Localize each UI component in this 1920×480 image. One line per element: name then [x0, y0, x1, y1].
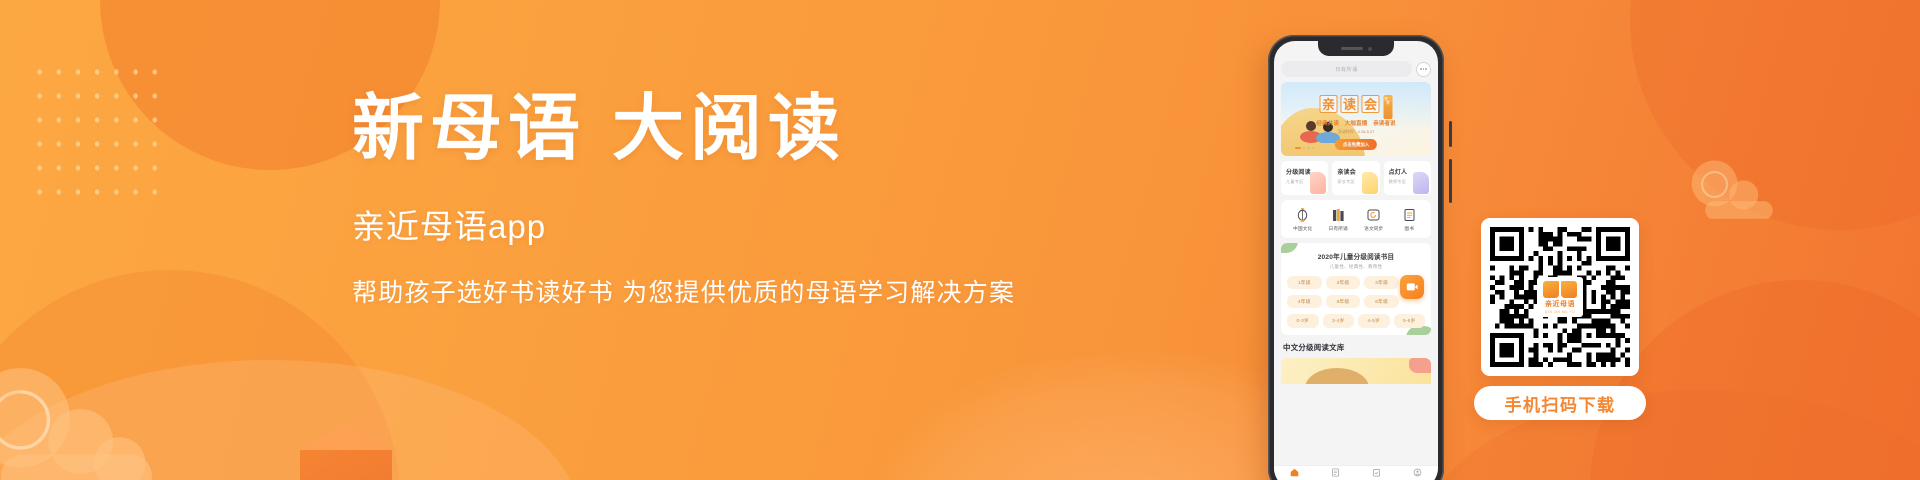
decor-circle-right — [1630, 0, 1920, 230]
zone-tile-teacher[interactable]: 点灯人 教师专区 — [1384, 161, 1431, 195]
zone-tile-parent-club[interactable]: 亲读会 家长专区 — [1332, 161, 1379, 195]
quick-link-label: 语文同步 — [1364, 226, 1383, 232]
quick-links-card: 中国文化 日有所诵 — [1281, 200, 1431, 238]
search-input[interactable]: 日有所诵 — [1281, 61, 1412, 77]
bottom-tabbar: 首页 小步读书 学习 — [1274, 465, 1438, 480]
zone-graphic-icon — [1362, 172, 1378, 194]
grade-card-subtitle: 儿童性、经典性、教育性 — [1287, 264, 1425, 270]
carousel-pager[interactable] — [1295, 147, 1314, 149]
hero-date: 活动时间：4.16-5.27 — [1338, 129, 1375, 135]
hero-sub-item: 大咖直播 — [1345, 119, 1367, 127]
age-chip[interactable]: 4-5岁 — [1358, 314, 1390, 327]
decor-cube — [300, 450, 392, 480]
decor-dot-grid — [30, 60, 165, 208]
hero-char: 读 — [1341, 95, 1359, 113]
download-button[interactable]: 手机扫码下载 — [1474, 386, 1646, 420]
age-chip-row: 0-3岁 3-4岁 4-5岁 5-6岁 — [1287, 314, 1425, 327]
grade-chip[interactable]: 2年级 — [1326, 276, 1361, 289]
age-chip[interactable]: 0-3岁 — [1287, 314, 1319, 327]
home-icon — [1290, 464, 1299, 480]
grade-chip[interactable]: 6年级 — [1364, 295, 1399, 308]
zone-graphic-icon — [1413, 172, 1429, 194]
page-title: 新母语大阅读 — [352, 86, 1032, 171]
grade-chip[interactable]: 4年级 — [1287, 295, 1322, 308]
grade-chip[interactable]: 3年级 — [1364, 276, 1399, 289]
quick-link-books[interactable]: 图书 — [1392, 207, 1428, 232]
quick-link-label: 日有所诵 — [1329, 226, 1348, 232]
grade-chip[interactable]: 5年级 — [1326, 295, 1361, 308]
tab-home[interactable]: 首页 — [1274, 464, 1315, 480]
open-book-icon — [1543, 281, 1577, 298]
hero-char: 会 — [1362, 95, 1380, 113]
logo-text-en: QIN JIN MU YU — [1545, 310, 1575, 314]
phone-screen: 日有所诵 亲 读 会 — [1274, 41, 1438, 480]
zone-tile-graded-reading[interactable]: 分级阅读 儿童专区 — [1281, 161, 1328, 195]
tab-reading[interactable]: 小步读书 — [1315, 464, 1356, 480]
hero-title: 亲 读 会 第二季 — [1320, 95, 1393, 119]
sync-icon — [1366, 207, 1381, 222]
headline-part-2: 大阅读 — [612, 85, 846, 170]
hero-char: 亲 — [1320, 95, 1338, 113]
quick-link-textbook-sync[interactable]: 语文同步 — [1356, 207, 1392, 232]
banner-copy: 新母语大阅读 亲近母语app 帮助孩子选好书读好书 为您提供优质的母语学习解决方… — [352, 86, 1032, 309]
grade-chip[interactable]: 1年级 — [1287, 276, 1322, 289]
decor-circle-right-bottom — [1590, 280, 1920, 480]
quick-link-daily-recite[interactable]: 日有所诵 — [1321, 207, 1357, 232]
tab-profile[interactable]: 我的 — [1397, 464, 1438, 480]
quick-link-label: 图书 — [1404, 226, 1414, 232]
clipboard-icon — [1372, 464, 1381, 480]
book-icon — [1402, 207, 1417, 222]
phone-mockup: 日有所诵 亲 读 会 — [1268, 35, 1444, 480]
books-icon — [1331, 207, 1346, 222]
decor-circle-bottom-left — [0, 270, 400, 480]
age-chip[interactable]: 5-6岁 — [1394, 314, 1426, 327]
user-icon — [1413, 464, 1422, 480]
cloud-icon — [0, 351, 174, 480]
play-video-button[interactable] — [1400, 275, 1424, 299]
hero-cta-button[interactable]: 点击免费加入 — [1335, 139, 1377, 150]
cloud-icon — [1690, 151, 1789, 219]
headline-part-1: 新母语 — [352, 85, 586, 170]
banner-tagline: 帮助孩子选好书读好书 为您提供优质的母语学习解决方案 — [352, 277, 1032, 310]
hero-sub-item: 亲读者说 — [1373, 119, 1395, 127]
app-search-row: 日有所诵 — [1281, 61, 1431, 77]
app-name: 亲近母语app — [352, 207, 1032, 247]
promo-banner: 新母语大阅读 亲近母语app 帮助孩子选好书读好书 为您提供优质的母语学习解决方… — [0, 0, 1920, 480]
more-options-icon[interactable] — [1416, 62, 1431, 77]
lantern-icon — [1295, 207, 1310, 222]
hero-banner-card[interactable]: 亲 读 会 第二季 经典共读 大咖直播 亲读者说 活动时间：4.16-5.27 … — [1281, 82, 1431, 156]
tab-study[interactable]: 学习 — [1356, 464, 1397, 480]
quick-link-chinese-culture[interactable]: 中国文化 — [1285, 207, 1321, 232]
decor-dune-left — [0, 360, 580, 480]
quick-link-label: 中国文化 — [1293, 226, 1312, 232]
qr-code-card: 亲近母语 QIN JIN MU YU — [1481, 218, 1639, 376]
library-card[interactable] — [1281, 358, 1431, 384]
brand-logo: 亲近母语 QIN JIN MU YU — [1537, 277, 1583, 317]
graded-booklist-card: 2020年儿童分级阅读书目 儿童性、经典性、教育性 1年级 2年级 3年级 — [1281, 243, 1431, 335]
zone-graphic-icon — [1310, 172, 1326, 194]
library-section-title: 中文分级阅读文库 — [1281, 340, 1431, 353]
hero-sub-item: 经典共读 — [1316, 119, 1338, 127]
zone-tiles: 分级阅读 儿童专区 亲读会 家长专区 点灯人 教师专区 — [1281, 161, 1431, 195]
hero-ribbon: 第二季 — [1384, 95, 1393, 119]
logo-text-cn: 亲近母语 — [1545, 299, 1575, 309]
phone-notch — [1318, 41, 1394, 56]
hero-subtitle: 经典共读 大咖直播 亲读者说 — [1316, 119, 1395, 127]
book-icon — [1331, 464, 1340, 480]
age-chip[interactable]: 3-4岁 — [1323, 314, 1355, 327]
grade-card-title: 2020年儿童分级阅读书目 — [1287, 251, 1425, 261]
